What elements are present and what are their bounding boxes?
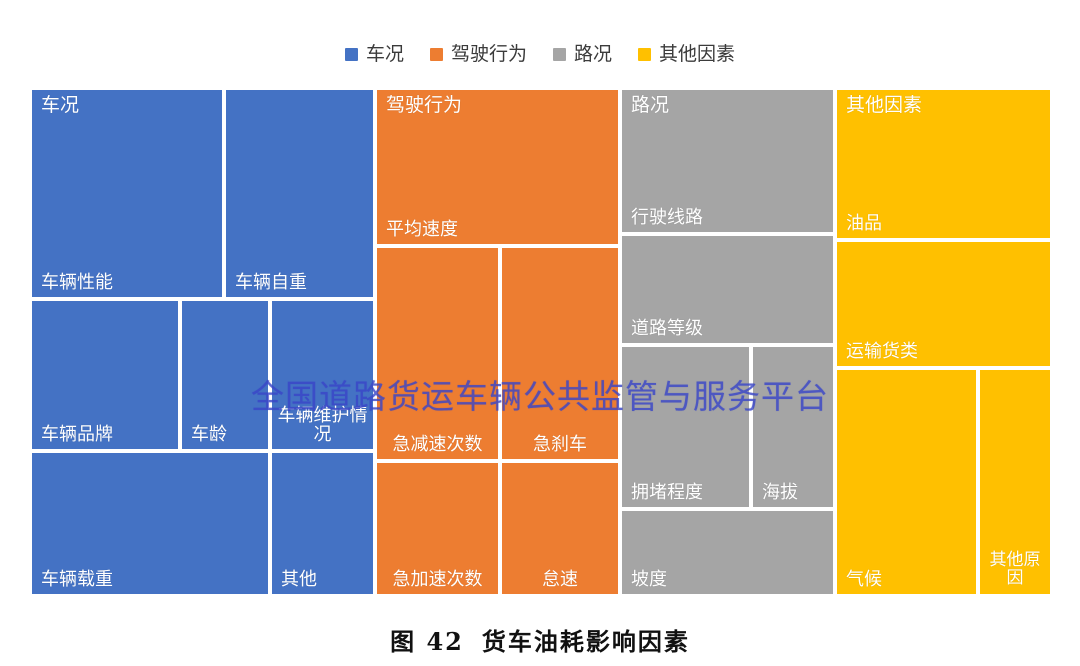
treemap-cell-vehicle-curb-weight[interactable]: 车辆自重 xyxy=(224,88,375,299)
treemap-cell-average-speed[interactable]: 驾驶行为 平均速度 xyxy=(375,88,620,246)
legend-label: 其他因素 xyxy=(659,45,735,64)
cell-label: 行驶线路 xyxy=(631,209,828,228)
treemap-cell-driving-route[interactable]: 路况 行驶线路 xyxy=(620,88,835,234)
chart-canvas: 车况 驾驶行为 路况 其他因素 车况 车辆性能 车辆自重 车辆品牌 xyxy=(0,0,1080,666)
treemap-cell-cargo-type[interactable]: 运输货类 xyxy=(835,240,1052,368)
treemap-cell-vehicle-load[interactable]: 车辆载重 xyxy=(30,451,270,596)
cell-label: 其他原因 xyxy=(980,552,1050,588)
cell-label: 车辆性能 xyxy=(41,274,217,293)
treemap-cell-climate[interactable]: 气候 xyxy=(835,368,978,596)
treemap-cell-other-reasons[interactable]: 其他原因 xyxy=(978,368,1052,596)
treemap: 车况 车辆性能 车辆自重 车辆品牌 车龄 车辆维护情况 车辆载重 其他 xyxy=(30,88,1052,596)
figure-title: 货车油耗影响因素 xyxy=(482,627,690,656)
cell-label: 坡度 xyxy=(631,571,828,590)
legend-swatch-icon xyxy=(345,48,358,61)
treemap-cell-vehicle-performance[interactable]: 车况 车辆性能 xyxy=(30,88,224,299)
cell-label: 拥堵程度 xyxy=(631,484,744,503)
treemap-cell-road-grade[interactable]: 道路等级 xyxy=(620,234,835,345)
treemap-cell-altitude[interactable]: 海拔 xyxy=(751,345,835,509)
cell-label: 怠速 xyxy=(502,571,618,590)
cell-label: 其他 xyxy=(281,571,368,590)
treemap-cell-slope[interactable]: 坡度 xyxy=(620,509,835,596)
chart-legend: 车况 驾驶行为 路况 其他因素 xyxy=(0,38,1080,70)
cell-label: 车辆品牌 xyxy=(41,426,173,445)
treemap-cell-rapid-acceleration-count[interactable]: 急加速次数 xyxy=(375,461,500,596)
legend-swatch-icon xyxy=(553,48,566,61)
cell-label: 平均速度 xyxy=(386,221,613,240)
group-title-vehicle-condition: 车况 xyxy=(41,96,79,116)
treemap-group-driving-behavior: 驾驶行为 平均速度 急减速次数 急刹车 急加速次数 怠速 xyxy=(375,88,620,596)
treemap-cell-fuel-quality[interactable]: 其他因素 油品 xyxy=(835,88,1052,240)
cell-label: 运输货类 xyxy=(846,343,1045,362)
legend-item-road-condition[interactable]: 路况 xyxy=(553,45,612,64)
treemap-group-other-factors: 其他因素 油品 运输货类 气候 其他原因 xyxy=(835,88,1052,596)
group-title-driving-behavior: 驾驶行为 xyxy=(386,96,462,116)
legend-swatch-icon xyxy=(638,48,651,61)
legend-label: 路况 xyxy=(574,45,612,64)
legend-label: 驾驶行为 xyxy=(451,45,527,64)
cell-label: 海拔 xyxy=(762,484,828,503)
legend-swatch-icon xyxy=(430,48,443,61)
legend-item-other-factors[interactable]: 其他因素 xyxy=(638,45,735,64)
figure-number: 图 42 xyxy=(390,627,464,656)
cell-label: 车龄 xyxy=(191,426,263,445)
treemap-group-road-condition: 路况 行驶线路 道路等级 拥堵程度 海拔 坡度 xyxy=(620,88,835,596)
cell-label: 车辆自重 xyxy=(235,274,368,293)
cell-label: 油品 xyxy=(846,215,1045,234)
cell-label: 车辆载重 xyxy=(41,571,263,590)
cell-label: 车辆维护情况 xyxy=(272,407,373,445)
cell-label: 道路等级 xyxy=(631,320,828,339)
treemap-cell-idling[interactable]: 怠速 xyxy=(500,461,620,596)
treemap-cell-vehicle-other[interactable]: 其他 xyxy=(270,451,375,596)
cell-label: 急加速次数 xyxy=(377,571,498,590)
group-title-road-condition: 路况 xyxy=(631,96,669,116)
treemap-cell-rapid-deceleration-count[interactable]: 急减速次数 xyxy=(375,246,500,461)
treemap-cell-vehicle-brand[interactable]: 车辆品牌 xyxy=(30,299,180,451)
group-title-other-factors: 其他因素 xyxy=(846,96,922,116)
treemap-cell-vehicle-maintenance[interactable]: 车辆维护情况 xyxy=(270,299,375,451)
cell-label: 急刹车 xyxy=(502,436,618,455)
treemap-cell-harsh-braking[interactable]: 急刹车 xyxy=(500,246,620,461)
legend-item-vehicle-condition[interactable]: 车况 xyxy=(345,45,404,64)
figure-caption: 图 42货车油耗影响因素 xyxy=(0,622,1080,657)
treemap-group-vehicle-condition: 车况 车辆性能 车辆自重 车辆品牌 车龄 车辆维护情况 车辆载重 其他 xyxy=(30,88,375,596)
treemap-cell-vehicle-age[interactable]: 车龄 xyxy=(180,299,270,451)
legend-item-driving-behavior[interactable]: 驾驶行为 xyxy=(430,45,527,64)
cell-label: 气候 xyxy=(846,571,971,590)
treemap-cell-congestion-level[interactable]: 拥堵程度 xyxy=(620,345,751,509)
legend-label: 车况 xyxy=(366,45,404,64)
cell-label: 急减速次数 xyxy=(377,436,498,455)
